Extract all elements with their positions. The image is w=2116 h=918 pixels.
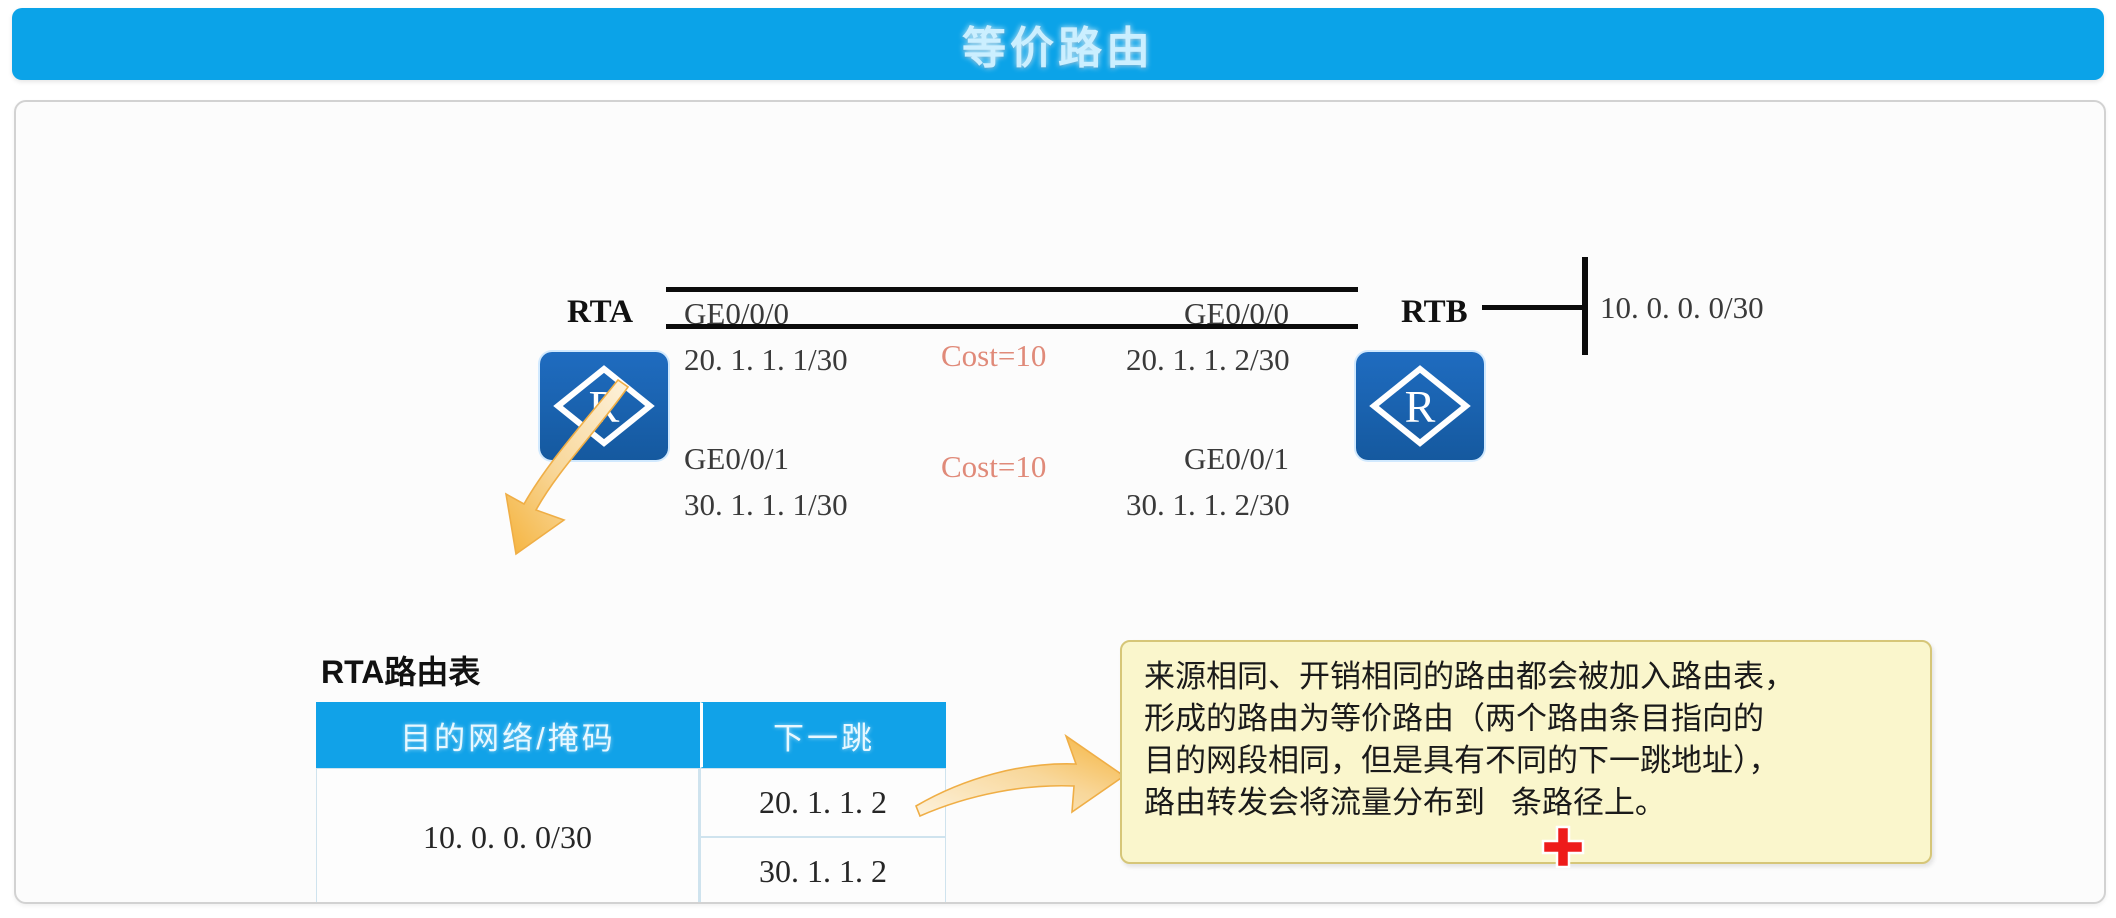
- svg-text:R: R: [1405, 381, 1436, 432]
- cost-label-link1: Cost=10: [941, 338, 1046, 374]
- arrow-to-table-icon: [446, 342, 686, 572]
- content-panel: RTA R GE0/0/0 20. 1. 1. 1/30 GE0/0/1 30.…: [14, 100, 2106, 904]
- link-line-ge000: [666, 287, 1358, 292]
- cell-next-hop-2: 30. 1. 1. 2: [700, 837, 946, 904]
- routing-table: 目的网络/掩码 下一跳 10. 0. 0. 0/30 20. 1. 1. 2 3…: [316, 702, 946, 904]
- routing-table-title: RTA路由表: [321, 647, 480, 693]
- arrow-to-note-icon: [914, 690, 1144, 840]
- iface-address-rtb-ge001: 30. 1. 1. 2/30: [1126, 485, 1290, 525]
- lan-segment-label: 10. 0. 0. 0/30: [1600, 290, 1764, 326]
- cell-destination: 10. 0. 0. 0/30: [316, 768, 700, 904]
- iface-address-rta-ge001: 30. 1. 1. 1/30: [684, 485, 848, 525]
- lan-segment-bar: [1582, 257, 1588, 355]
- table-row[interactable]: 10. 0. 0. 0/30 20. 1. 1. 2: [316, 768, 946, 837]
- link-line-lan: [1482, 305, 1586, 310]
- note-line: 来源相同、开销相同的路由都会被加入路由表，: [1144, 656, 1910, 698]
- cost-label-link2: Cost=10: [941, 449, 1046, 485]
- iface-label-rta-ge001: GE0/0/1: [684, 439, 789, 479]
- router-icon: R: [1356, 352, 1484, 460]
- iface-label-rtb-ge001: GE0/0/1: [1184, 439, 1289, 479]
- iface-address-rta-ge000: 20. 1. 1. 1/30: [684, 340, 848, 380]
- note-line: 路由转发会将流量分布到 条路径上。: [1144, 782, 1910, 824]
- table-header-next-hop: 下一跳: [700, 702, 946, 768]
- page-title-bar: 等价路由: [12, 8, 2104, 80]
- router-label-rta: RTA: [567, 294, 633, 331]
- table-header-row: 目的网络/掩码 下一跳: [316, 702, 946, 768]
- table-header-destination: 目的网络/掩码: [316, 702, 700, 768]
- note-box: 来源相同、开销相同的路由都会被加入路由表， 形成的路由为等价路由（两个路由条目指…: [1120, 640, 1932, 864]
- cell-next-hop-1: 20. 1. 1. 2: [700, 768, 946, 837]
- router-label-rtb: RTB: [1401, 294, 1468, 331]
- page-title: 等价路由: [962, 12, 1154, 76]
- note-line: 目的网段相同，但是具有不同的下一跳地址），: [1144, 740, 1910, 782]
- red-cross-cursor-icon: [1541, 825, 1585, 869]
- note-line: 形成的路由为等价路由（两个路由条目指向的: [1144, 698, 1910, 740]
- iface-address-rtb-ge000: 20. 1. 1. 2/30: [1126, 340, 1290, 380]
- router-icon-rtb[interactable]: R: [1356, 352, 1484, 460]
- link-line-ge001: [666, 324, 1358, 329]
